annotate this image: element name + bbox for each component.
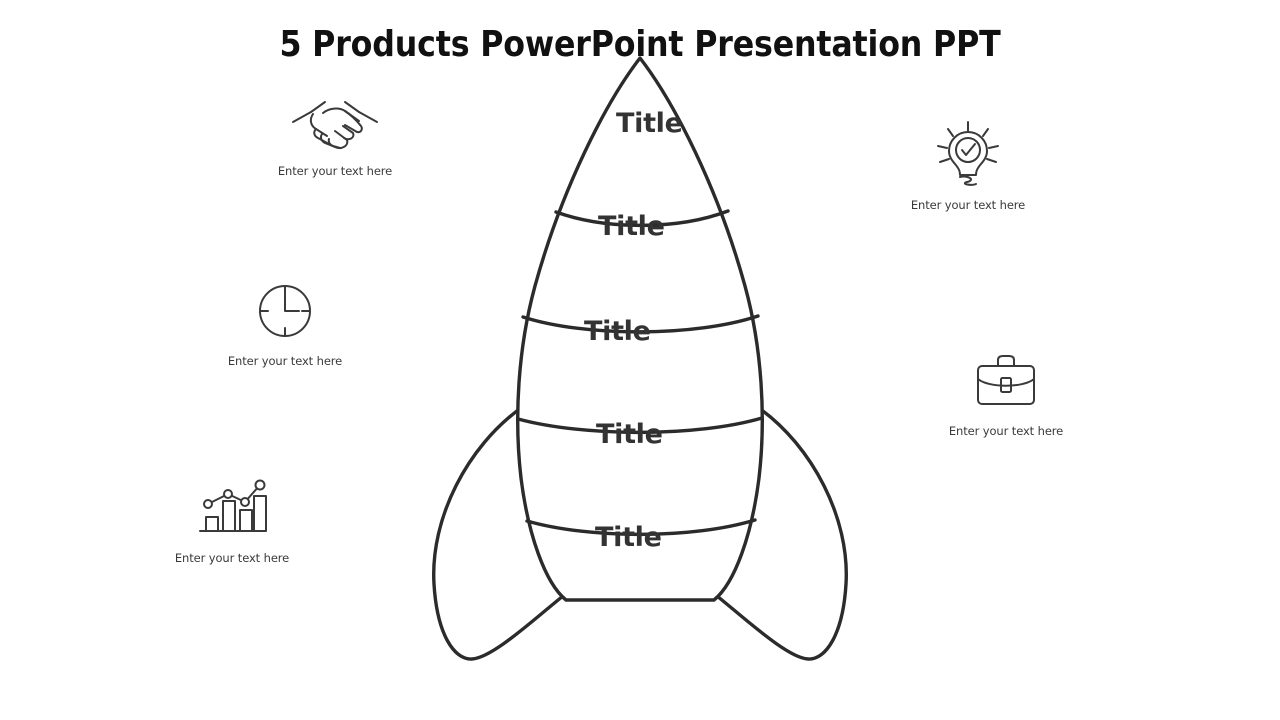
side-item-label: Enter your text here <box>873 198 1063 212</box>
side-item-top-right[interactable]: Enter your text here <box>873 122 1063 212</box>
rocket-segment-title-1: Title <box>616 108 683 139</box>
side-item-label: Enter your text here <box>190 354 380 368</box>
side-item-bottom-left[interactable]: Enter your text here <box>137 475 327 565</box>
side-item-top-left[interactable]: Enter your text here <box>240 88 430 178</box>
side-item-middle-right[interactable]: Enter your text here <box>911 348 1101 438</box>
rocket-segment-title-4: Title <box>596 419 663 450</box>
side-item-label: Enter your text here <box>911 424 1101 438</box>
bar-chart-icon <box>137 475 327 541</box>
briefcase-icon <box>911 348 1101 414</box>
lightbulb-check-icon <box>873 122 1063 188</box>
clock-icon <box>190 278 380 344</box>
rocket-diagram: Title Title Title Title Title <box>410 48 870 673</box>
handshake-icon <box>240 88 430 154</box>
rocket-segment-title-2: Title <box>598 211 665 242</box>
side-item-label: Enter your text here <box>240 164 430 178</box>
rocket-segment-title-3: Title <box>584 316 651 347</box>
side-item-middle-left[interactable]: Enter your text here <box>190 278 380 368</box>
rocket-segment-title-5: Title <box>595 522 662 553</box>
side-item-label: Enter your text here <box>137 551 327 565</box>
